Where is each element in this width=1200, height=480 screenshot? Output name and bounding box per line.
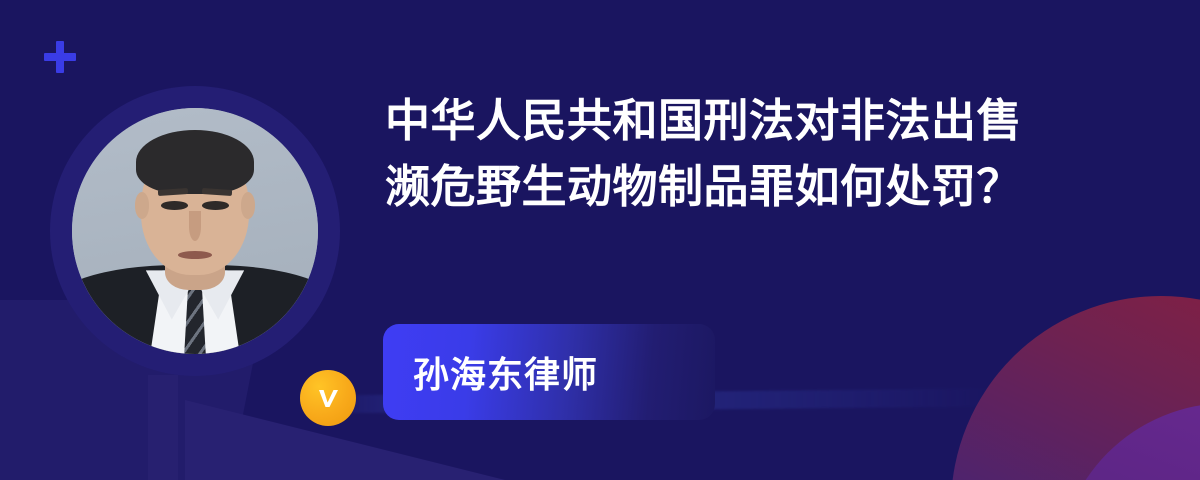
avatar bbox=[44, 78, 340, 398]
portrait-nose bbox=[189, 211, 201, 241]
portrait-ear-right bbox=[241, 192, 256, 219]
page-title: 中华人民共和国刑法对非法出售濒危野生动物制品罪如何处罚？ bbox=[385, 88, 1025, 220]
portrait-mouth bbox=[178, 251, 212, 259]
headline-block: 中华人民共和国刑法对非法出售濒危野生动物制品罪如何处罚？ bbox=[385, 88, 1025, 220]
plus-icon bbox=[44, 41, 76, 73]
portrait-hair bbox=[136, 130, 254, 194]
promo-card: 中华人民共和国刑法对非法出售濒危野生动物制品罪如何处罚？ 孙海东律师 bbox=[0, 0, 1200, 480]
portrait-ear-left bbox=[135, 192, 150, 219]
verified-check-icon bbox=[300, 370, 356, 426]
lawyer-name-button[interactable]: 孙海东律师 bbox=[383, 324, 715, 420]
avatar-photo bbox=[72, 108, 318, 354]
